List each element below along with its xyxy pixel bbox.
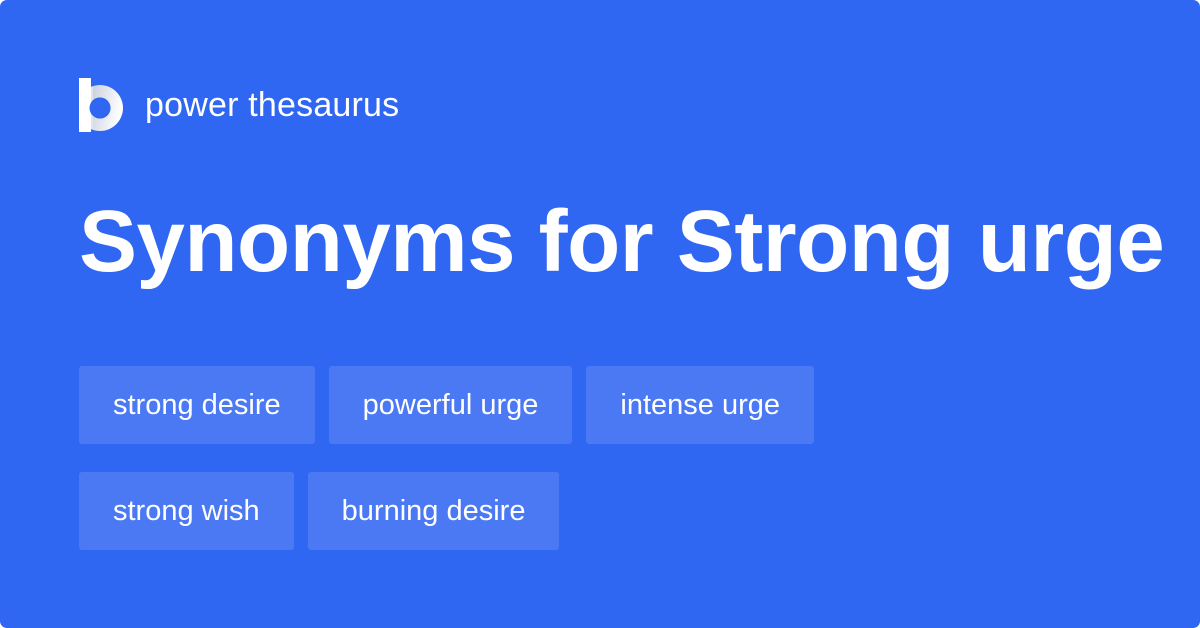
page-title: Synonyms for Strong urge	[79, 196, 1164, 288]
brand-name: power thesaurus	[145, 88, 399, 122]
synonym-chip-list: strong desire powerful urge intense urge…	[79, 366, 1129, 550]
synonym-chip[interactable]: burning desire	[308, 472, 560, 550]
synonym-chip[interactable]: strong desire	[79, 366, 315, 444]
power-thesaurus-b-logo-icon	[79, 78, 123, 132]
brand-header[interactable]: power thesaurus	[79, 78, 399, 132]
synonym-chip[interactable]: strong wish	[79, 472, 294, 550]
synonym-chip[interactable]: intense urge	[586, 366, 814, 444]
share-card: power thesaurus Synonyms for Strong urge…	[0, 0, 1200, 628]
synonym-chip[interactable]: powerful urge	[329, 366, 573, 444]
